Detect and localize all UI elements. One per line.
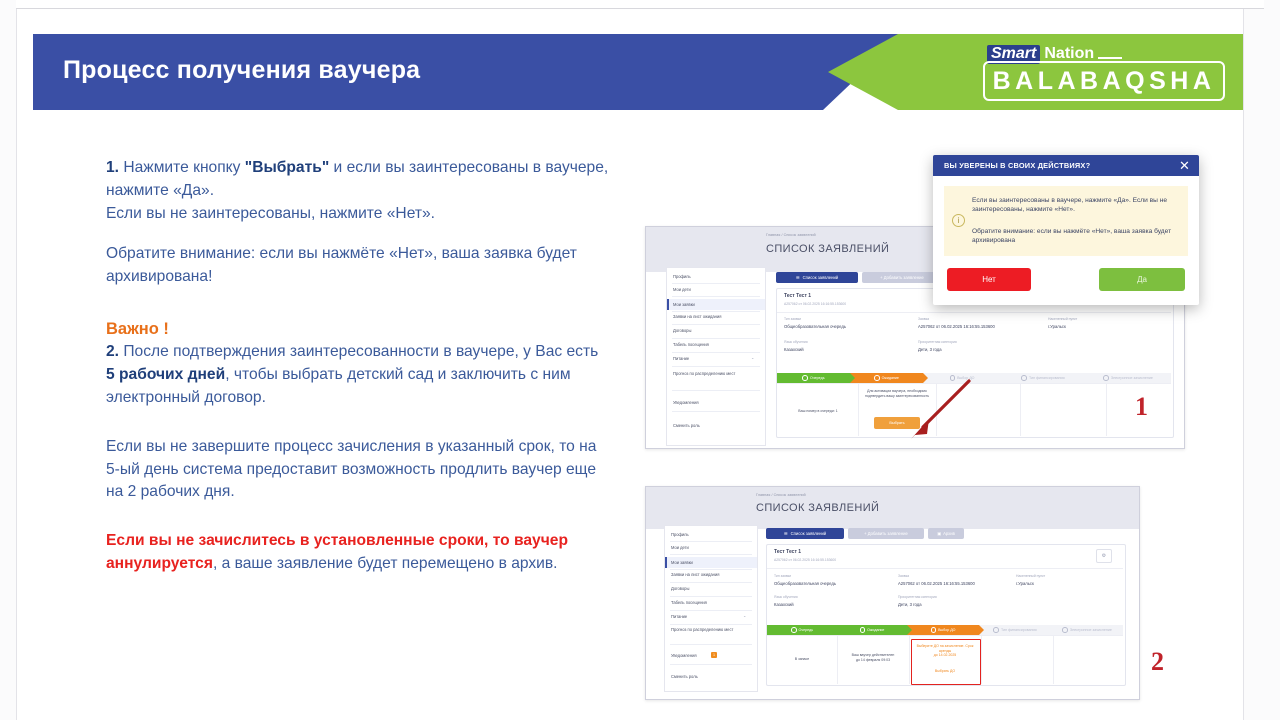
modal-yes-button[interactable]: Да [1099,268,1185,291]
modal-no-button[interactable]: Нет [947,268,1031,291]
column-divider [1053,635,1054,684]
field-label-lang: Язык обучения [774,595,798,599]
gear-icon[interactable]: ⚙ [1096,549,1112,563]
field-label-city: Населенный пункт [1016,574,1045,578]
applicant-name: Тест Тест 1 [784,293,811,299]
sidebar-divider [672,366,760,367]
field-label-type: Тип заявки [774,574,791,578]
tab-add-application[interactable]: + Добавить заявление [862,272,942,283]
sidebar-divider [670,554,752,555]
sidebar-item-waiting-list[interactable]: Заявки на лист ожидания [671,572,719,577]
field-label-lang: Язык обучения [784,340,808,344]
tab-applications-list-label: Список заявлений [791,531,827,536]
sidebar-item-my-children[interactable]: Мои дети [673,287,691,292]
sidebar-divider [672,338,760,339]
select-do-link[interactable]: Выбрать ДО [914,669,976,674]
sidebar-item-contracts[interactable]: Договоры [671,586,689,591]
column-divider [909,635,910,684]
slide-header: Процесс получения ваучера Smart Nation B… [33,34,1243,110]
select-do-line2: до 14.02.2025 [934,653,956,657]
sidebar-divider [670,610,752,611]
field-value-app: A257062 от 06.02.2025 16:16:55.153600 [898,581,975,586]
voucher-valid-line2: до 14 февраля 09:03 [856,658,890,662]
app-page-title: СПИСОК ЗАЯВЛЕНИЙ [766,243,889,255]
sidebar-divider [672,311,760,312]
modal-text-1: Если вы заинтересованы в ваучере, нажмит… [972,196,1180,215]
modal-text-2: Обратите внимание: если вы нажмёте «Нет»… [972,227,1182,246]
sidebar-item-placement-forecast[interactable]: Прогноз по распределению мест [673,371,759,377]
sidebar-divider [670,644,752,645]
voucher-valid-cell: Ваш ваучер действителен до 14 февраля 09… [840,653,906,662]
reserve-cell: В запасе [769,657,835,662]
sidebar-item-meals[interactable]: Питание [671,614,687,619]
field-value-type: Общеобразовательная очередь [774,581,836,586]
field-value-cat: Дети, 3 года [918,347,942,352]
close-icon[interactable]: ✕ [1178,159,1191,172]
step-select-do: Выбор ДО [907,625,979,635]
step-waiting: Ожидание [837,625,907,635]
sidebar-item-notifications[interactable]: Уведомления [673,400,699,405]
step-2-number: 2. [106,343,119,360]
tab-archive[interactable]: ▣ Архив [928,528,964,539]
sidebar-item-attendance[interactable]: Табель посещения [671,600,707,605]
sidebar-divider [670,582,752,583]
step-financing: Тип финансирования [979,625,1051,635]
right-gutter [1243,0,1280,720]
step-1-line-3: Если вы не заинтересованы, нажмите «Нет»… [106,203,611,226]
app-sidebar-1: Профиль Мои дети Мои заявки Заявки на ли… [666,267,766,446]
slide-page: Процесс получения ваучера Smart Nation B… [0,0,1280,720]
sidebar-divider [670,596,752,597]
sidebar-item-notifications[interactable]: Уведомления [671,653,697,658]
field-value-lang: Казахский [784,347,804,352]
sidebar-divider [672,324,760,325]
sidebar-item-my-applications[interactable]: Мои заявки [667,299,765,310]
sidebar-item-switch-role[interactable]: Сменить роль [673,423,700,428]
field-value-cat: Дети, 3 года [898,602,922,607]
field-label-app: Заявка [918,317,929,321]
chevron-down-icon[interactable]: ⌄ [743,613,746,618]
sidebar-active-indicator [667,299,669,310]
step-enrollment: Электронное зачисление [1085,373,1171,383]
archive-icon: ▣ [937,531,941,536]
spacer-3 [106,410,611,436]
logo-brand-box: BALABAQSHA [983,61,1225,101]
step-financing: Тип финансирования [1001,373,1085,383]
cancellation-rest: , а ваше заявление будет перемещено в ар… [213,555,558,572]
step-1-text-a: Нажмите кнопку [119,159,245,176]
queue-number-cell: Ваш номер в очереди: 1 [779,409,857,414]
sidebar-divider [670,664,752,665]
sidebar-active-indicator [665,557,667,568]
column-divider [858,383,859,436]
top-frame [16,0,1264,9]
spacer-2 [106,289,611,317]
callout-number-1: 1 [1135,392,1148,422]
column-divider [1020,383,1021,436]
field-value-city: г.Уральск [1016,581,1034,586]
status-steps-2: Очередь Ожидание Выбор ДО Тип финансиров… [767,625,1123,635]
hamburger-icon: ☰ [796,275,800,280]
cancellation-paragraph: Если вы не зачислитесь в установленные с… [106,530,611,576]
column-divider [837,635,838,684]
confirmation-modal: ВЫ УВЕРЕНЫ В СВОИХ ДЕЙСТВИЯХ? ✕ i Если в… [933,155,1199,305]
app-topband-2 [646,487,1139,529]
sidebar-item-placement-forecast[interactable]: Прогноз по распределению мест [671,627,751,633]
tab-applications-list[interactable]: ☰ Список заявлений [766,528,844,539]
sidebar-item-attendance[interactable]: Табель посещения [673,342,709,347]
app-page-title: СПИСОК ЗАЯВЛЕНИЙ [756,502,879,514]
breadcrumb: Главная / Список заявлений [756,493,806,497]
archive-note: Обратите внимание: если вы нажмёте «Нет»… [106,243,611,289]
step-1-paragraph: 1. Нажмите кнопку "Выбрать" и если вы за… [106,157,611,203]
instructions-column: 1. Нажмите кнопку "Выбрать" и если вы за… [106,157,611,576]
tab-archive-label: Архив [943,531,955,536]
step-2-paragraph: 2. После подтверждения заинтересованност… [106,341,611,410]
brand-logo: Smart Nation BALABAQSHA [977,42,1229,102]
sidebar-divider [672,390,760,391]
card-divider [777,312,1171,313]
sidebar-divider [670,569,752,570]
application-subtitle: A257062 от 06.02.2025 16:16:55.153600 [774,558,836,562]
notifications-badge: 1 [711,652,717,658]
sidebar-divider [672,352,760,353]
step-2-text-a: После подтверждения заинтересованности в… [119,343,598,360]
sidebar-item-switch-role[interactable]: Сменить роль [671,674,698,679]
sidebar-item-waiting-list[interactable]: Заявки на лист ожидания [673,314,721,319]
field-value-type: Общеобразовательная очередь [784,324,846,329]
step-1-number: 1. [106,159,119,176]
field-value-city: г.Уральск [1048,324,1066,329]
app-mock-2: Главная / Список заявлений СПИСОК ЗАЯВЛЕ… [646,487,1139,699]
column-divider [981,635,982,684]
step-2-bold-days: 5 рабочих дней [106,366,225,383]
callout-number-2: 2 [1151,647,1164,677]
app-sidebar-2: Профиль Мои дети Мои заявки Заявки на ли… [664,525,758,692]
sidebar-divider [670,541,752,542]
select-do-instruction: Выберите ДО на зачисление. Срок аренды д… [914,644,976,658]
left-gutter [0,0,17,720]
breadcrumb: Главная / Список заявлений [766,233,816,237]
column-divider [1106,383,1107,436]
sidebar-item-profile[interactable]: Профиль [671,532,689,537]
tab-applications-list-label: Список заявлений [803,275,839,280]
card-divider [767,568,1123,569]
info-icon: i [952,214,965,227]
spacer-1 [106,226,611,243]
step-queue: Очередь [777,373,850,383]
screenshot-2: Главная / Список заявлений СПИСОК ЗАЯВЛЕ… [645,486,1140,700]
voucher-valid-line1: Ваш ваучер действителен [852,653,895,657]
sidebar-divider [670,624,752,625]
step-queue: Очередь [767,625,837,635]
field-label-app: Заявка [898,574,909,578]
modal-title: ВЫ УВЕРЕНЫ В СВОИХ ДЕЙСТВИЯХ? [933,155,1199,176]
annotation-arrow-icon [903,377,975,441]
logo-rule [1098,57,1122,59]
application-subtitle: A257062 от 06.02.2025 16:16:55.153600 [784,302,846,306]
sidebar-item-my-children[interactable]: Мои дети [671,545,689,550]
logo-brand-text: BALABAQSHA [993,69,1216,94]
extension-paragraph: Если вы не завершите процесс зачисления … [106,436,611,505]
hamburger-icon: ☰ [784,531,788,536]
step-1-bold-button-name: "Выбрать" [245,159,329,176]
sidebar-item-my-applications[interactable]: Мои заявки [665,557,757,568]
sidebar-item-profile[interactable]: Профиль [673,274,691,279]
sidebar-item-contracts[interactable]: Договоры [673,328,691,333]
applicant-name: Тест Тест 1 [774,549,801,555]
logo-nation-text: Nation [1044,46,1094,62]
spacer-4 [106,504,611,530]
field-label-cat: Приоритетная категория [918,340,957,344]
field-label-city: Населенный пункт [1048,317,1077,321]
sidebar-divider [672,296,760,297]
tab-add-application[interactable]: + Добавить заявление [848,528,924,539]
slide-canvas: Процесс получения ваучера Smart Nation B… [17,9,1243,720]
sidebar-item-meals[interactable]: Питание [673,356,689,361]
page-title: Процесс получения ваучера [63,56,420,85]
important-heading: Важно ! [106,317,611,341]
select-do-line1: Выберите ДО на зачисление. Срок аренды [917,644,974,653]
tab-applications-list[interactable]: ☰ Список заявлений [776,272,858,283]
field-label-type: Тип заявки [784,317,801,321]
modal-notice-panel: i Если вы заинтересованы в ваучере, нажм… [944,186,1188,256]
field-value-app: A257062 от 06.02.2025 16:16:55.153600 [918,324,995,329]
chevron-down-icon[interactable]: ⌄ [751,355,754,360]
step-enrollment: Электронное зачисление [1051,625,1123,635]
sidebar-divider [672,411,760,412]
field-label-cat: Приоритетная категория [898,595,937,599]
sidebar-divider [672,283,760,284]
field-value-lang: Казахский [774,602,794,607]
